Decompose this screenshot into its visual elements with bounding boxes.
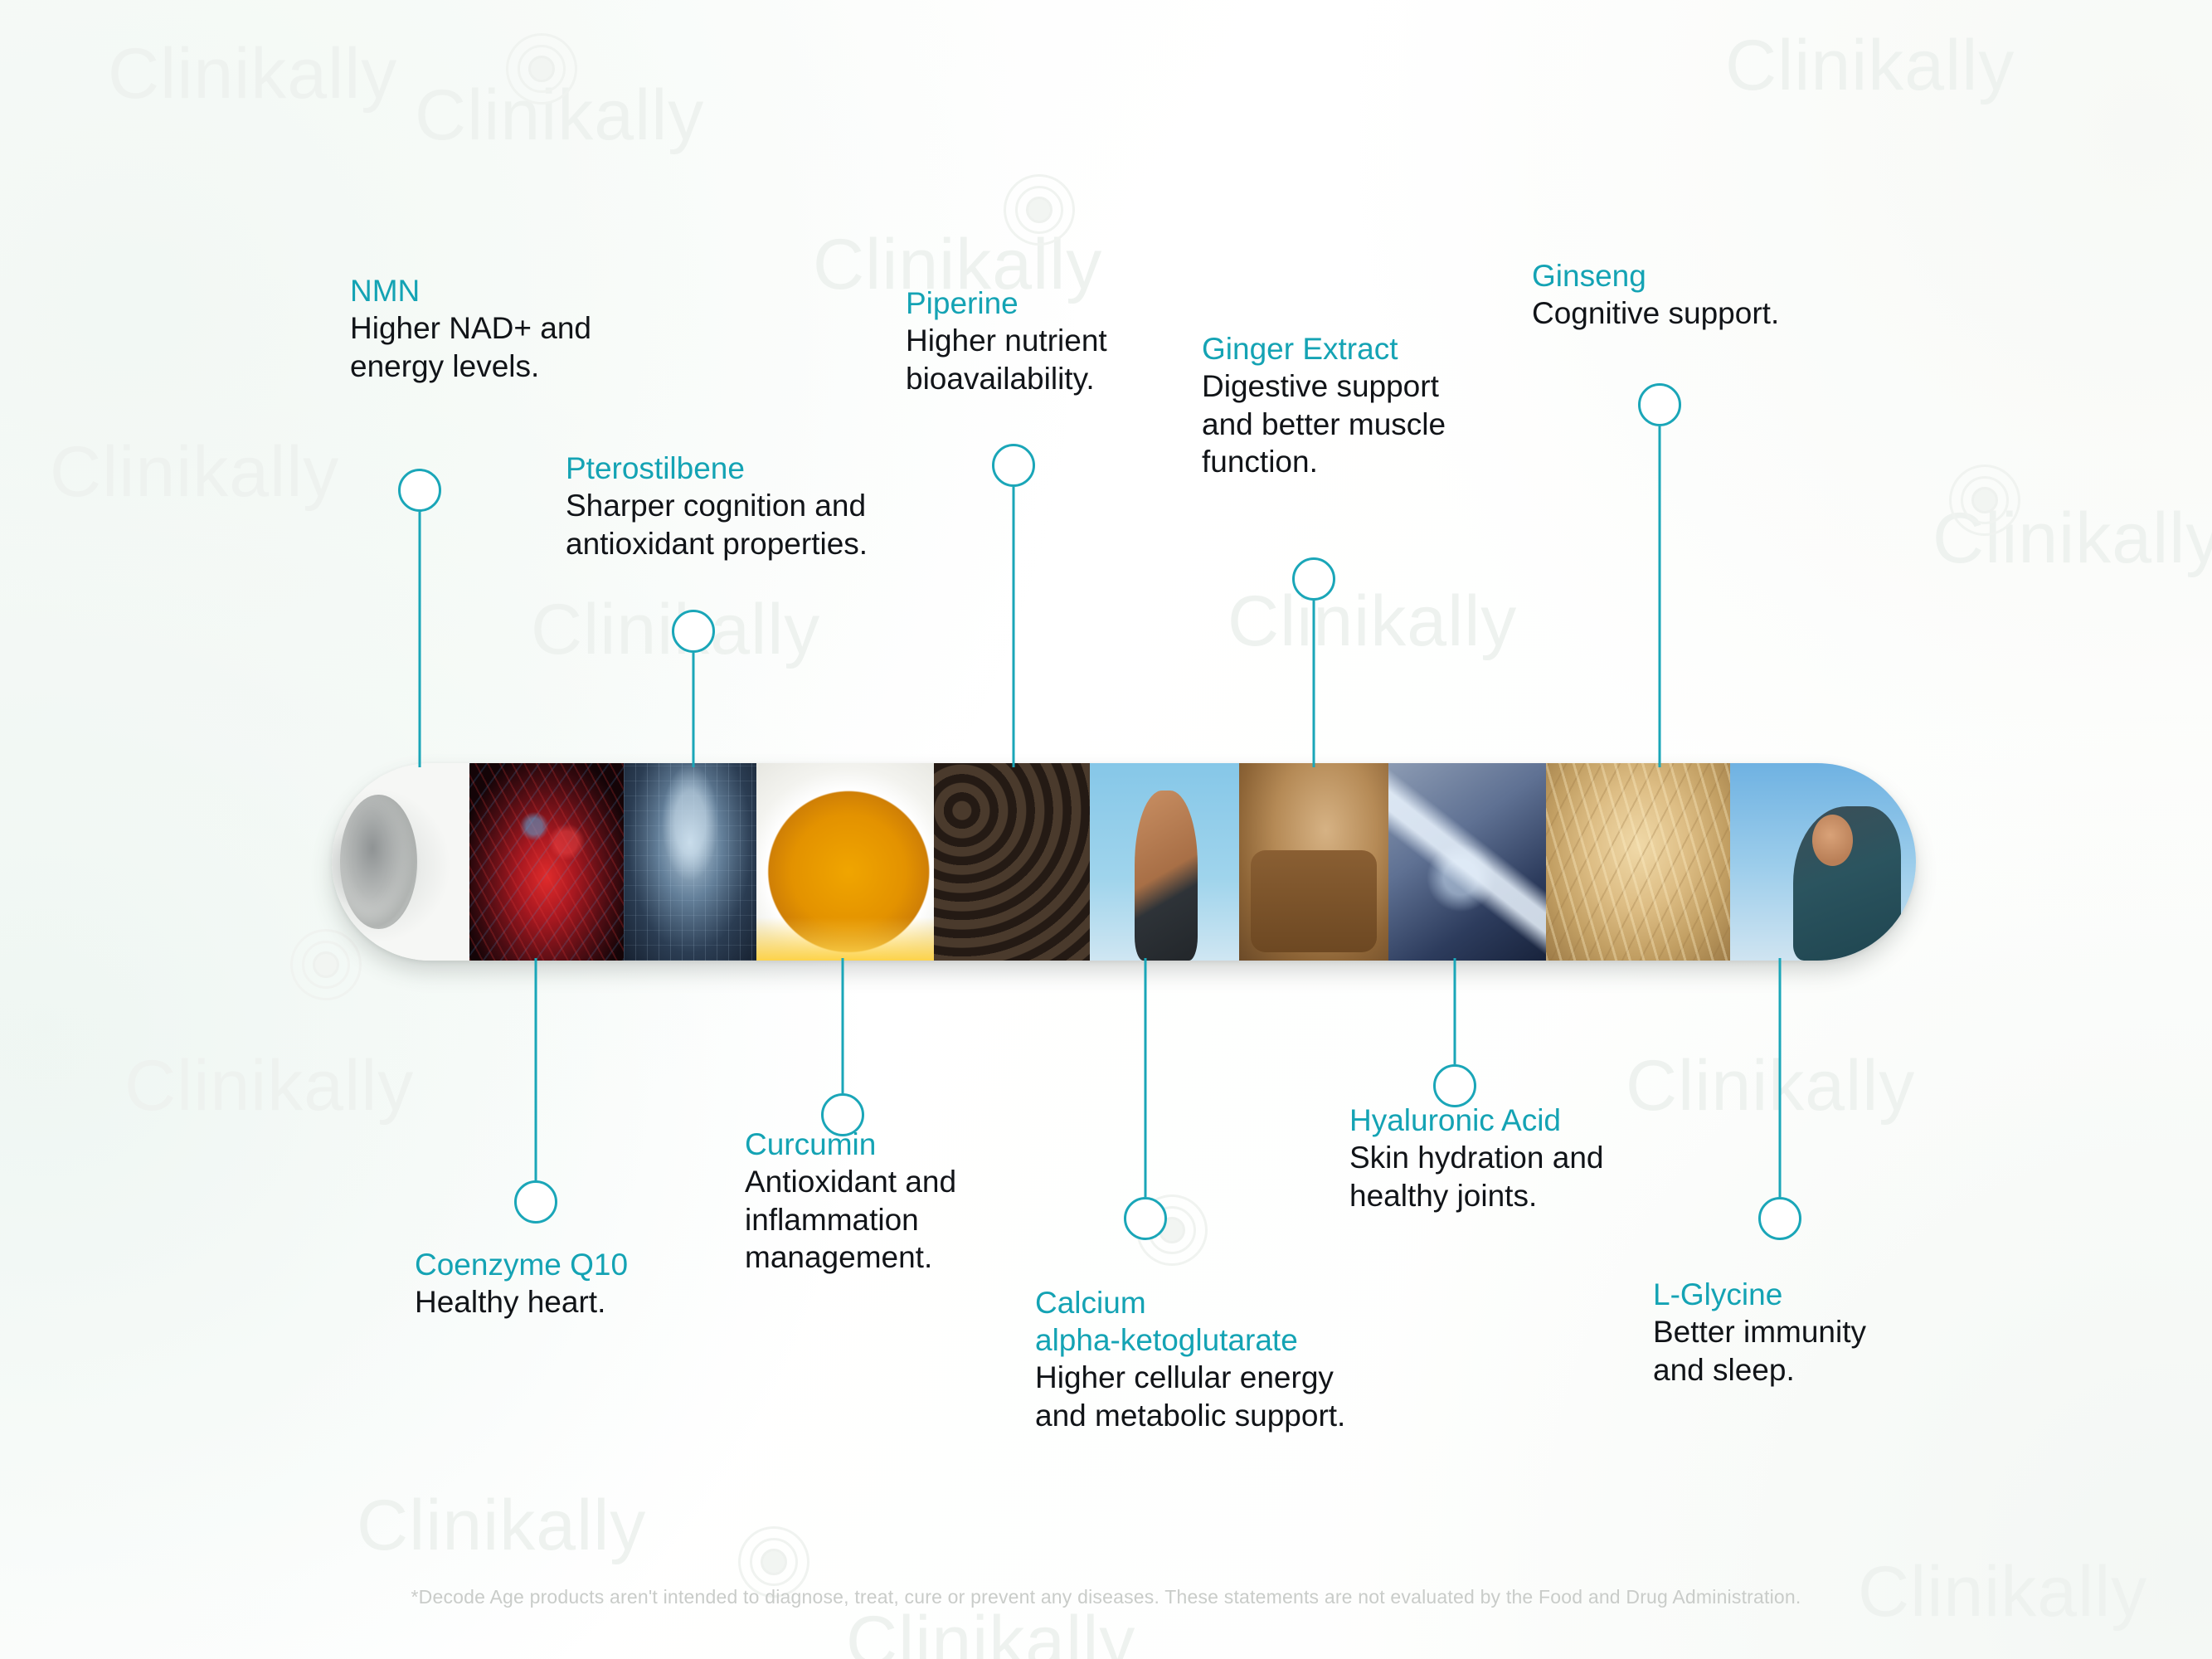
callout-description: Antioxidant and inflammation management. xyxy=(745,1163,1077,1277)
watermark-text: Clinikally xyxy=(1228,581,1517,663)
connector-cakg xyxy=(1124,958,1167,1282)
connector-dot xyxy=(514,1180,557,1224)
connector-piperine xyxy=(992,444,1035,767)
callout-description: Digestive support and better muscle func… xyxy=(1202,367,1550,481)
callout-pterostilbene: Pterostilbene Sharper cognition and anti… xyxy=(566,450,997,562)
callout-title: Ginseng xyxy=(1532,257,1922,294)
callout-lglycine: L-Glycine Better immunity and sleep. xyxy=(1653,1276,1985,1389)
concentric-circles-logo-icon xyxy=(506,33,577,105)
connector-ginger xyxy=(1292,557,1335,767)
connector-coq10 xyxy=(514,958,557,1224)
callout-title: Pterostilbene xyxy=(566,450,997,487)
callout-description: Sharper cognition and antioxidant proper… xyxy=(566,487,997,562)
connector-curcumin xyxy=(821,958,864,1136)
connector-ginseng xyxy=(1638,383,1681,767)
callout-ginseng: Ginseng Cognitive support. xyxy=(1532,257,1922,333)
connector-stem xyxy=(1659,426,1661,767)
brain-scan-image xyxy=(624,763,756,961)
callout-title: Coenzyme Q10 xyxy=(415,1246,771,1283)
callout-description: Skin hydration and healthy joints. xyxy=(1349,1139,1706,1214)
watermark-text: Clinikally xyxy=(108,33,397,115)
panel-ginseng xyxy=(1546,763,1730,961)
connector-dot xyxy=(672,610,715,653)
watermark-text: Clinikally xyxy=(124,1045,414,1127)
heart-image xyxy=(469,763,624,961)
callout-description: Healthy heart. xyxy=(415,1283,771,1321)
panel-nmn xyxy=(332,763,469,961)
connector-dot xyxy=(1292,557,1335,601)
ginseng-root-image xyxy=(1546,763,1730,961)
panel-curcumin xyxy=(756,763,934,961)
callout-nmn: NMN Higher NAD+ and energy levels. xyxy=(350,272,740,385)
connector-dot xyxy=(1124,1197,1167,1240)
callout-ginger: Ginger Extract Digestive support and bet… xyxy=(1202,330,1550,481)
connector-dot xyxy=(1638,383,1681,426)
peppercorn-image xyxy=(934,763,1090,961)
connector-stem xyxy=(842,958,844,1093)
athlete-image xyxy=(1090,763,1239,961)
callout-curcumin: Curcumin Antioxidant and inflammation ma… xyxy=(745,1126,1077,1277)
callout-title: Piperine xyxy=(906,285,1262,322)
panel-ginger xyxy=(1239,763,1388,961)
callout-description: Better immunity and sleep. xyxy=(1653,1313,1985,1389)
connector-stem xyxy=(1145,958,1147,1197)
connector-dot xyxy=(1758,1197,1801,1240)
ginger-root-image xyxy=(1239,763,1388,961)
watermark-text: Clinikally xyxy=(1725,25,2015,107)
connector-stem xyxy=(1779,958,1782,1197)
disclaimer-text: *Decode Age products aren't intended to … xyxy=(0,1586,2212,1608)
woman-dumbbell-image xyxy=(1730,763,1916,961)
connector-dot xyxy=(398,469,441,512)
connector-lglycine xyxy=(1758,958,1801,1282)
callout-description: Higher NAD+ and energy levels. xyxy=(350,309,740,385)
callout-description: Higher cellular energy and metabolic sup… xyxy=(1035,1359,1466,1434)
callout-title: NMN xyxy=(350,272,740,309)
watermark-text: Clinikally xyxy=(846,1601,1135,1659)
concentric-circles-logo-icon xyxy=(1949,465,2020,536)
callout-title: Hyaluronic Acid xyxy=(1349,1102,1706,1139)
panel-lglycine xyxy=(1730,763,1916,961)
connector-stem xyxy=(1013,487,1015,767)
callout-coq10: Coenzyme Q10 Healthy heart. xyxy=(415,1246,771,1321)
panel-coq10 xyxy=(469,763,624,961)
connector-stem xyxy=(693,653,695,767)
callout-title: Curcumin xyxy=(745,1126,1077,1163)
callout-title: Calcium alpha-ketoglutarate xyxy=(1035,1284,1466,1359)
nmn-powder-image xyxy=(332,763,469,961)
callout-title: Ginger Extract xyxy=(1202,330,1550,367)
watermark-text: Clinikally xyxy=(50,431,339,513)
turmeric-powder-image xyxy=(756,763,934,961)
panel-hyaluronic xyxy=(1388,763,1546,961)
connector-stem xyxy=(1454,958,1456,1064)
callout-cakg: Calcium alpha-ketoglutarate Higher cellu… xyxy=(1035,1284,1466,1434)
connector-stem xyxy=(419,512,421,767)
callout-description: Cognitive support. xyxy=(1532,294,1922,333)
connector-stem xyxy=(1313,601,1315,767)
callout-hyaluronic: Hyaluronic Acid Skin hydration and healt… xyxy=(1349,1102,1706,1214)
panel-piperine xyxy=(934,763,1090,961)
ingredient-capsule-strip xyxy=(332,763,1916,961)
concentric-circles-logo-icon xyxy=(1004,174,1075,246)
watermark-text: Clinikally xyxy=(357,1485,646,1567)
panel-cakg xyxy=(1090,763,1239,961)
connector-dot xyxy=(992,444,1035,487)
callout-title: L-Glycine xyxy=(1653,1276,1985,1313)
water-splash-image xyxy=(1388,763,1546,961)
connector-nmn xyxy=(398,469,441,767)
connector-pterostilbene xyxy=(672,610,715,767)
connector-stem xyxy=(535,958,537,1180)
panel-pterostilbene xyxy=(624,763,756,961)
